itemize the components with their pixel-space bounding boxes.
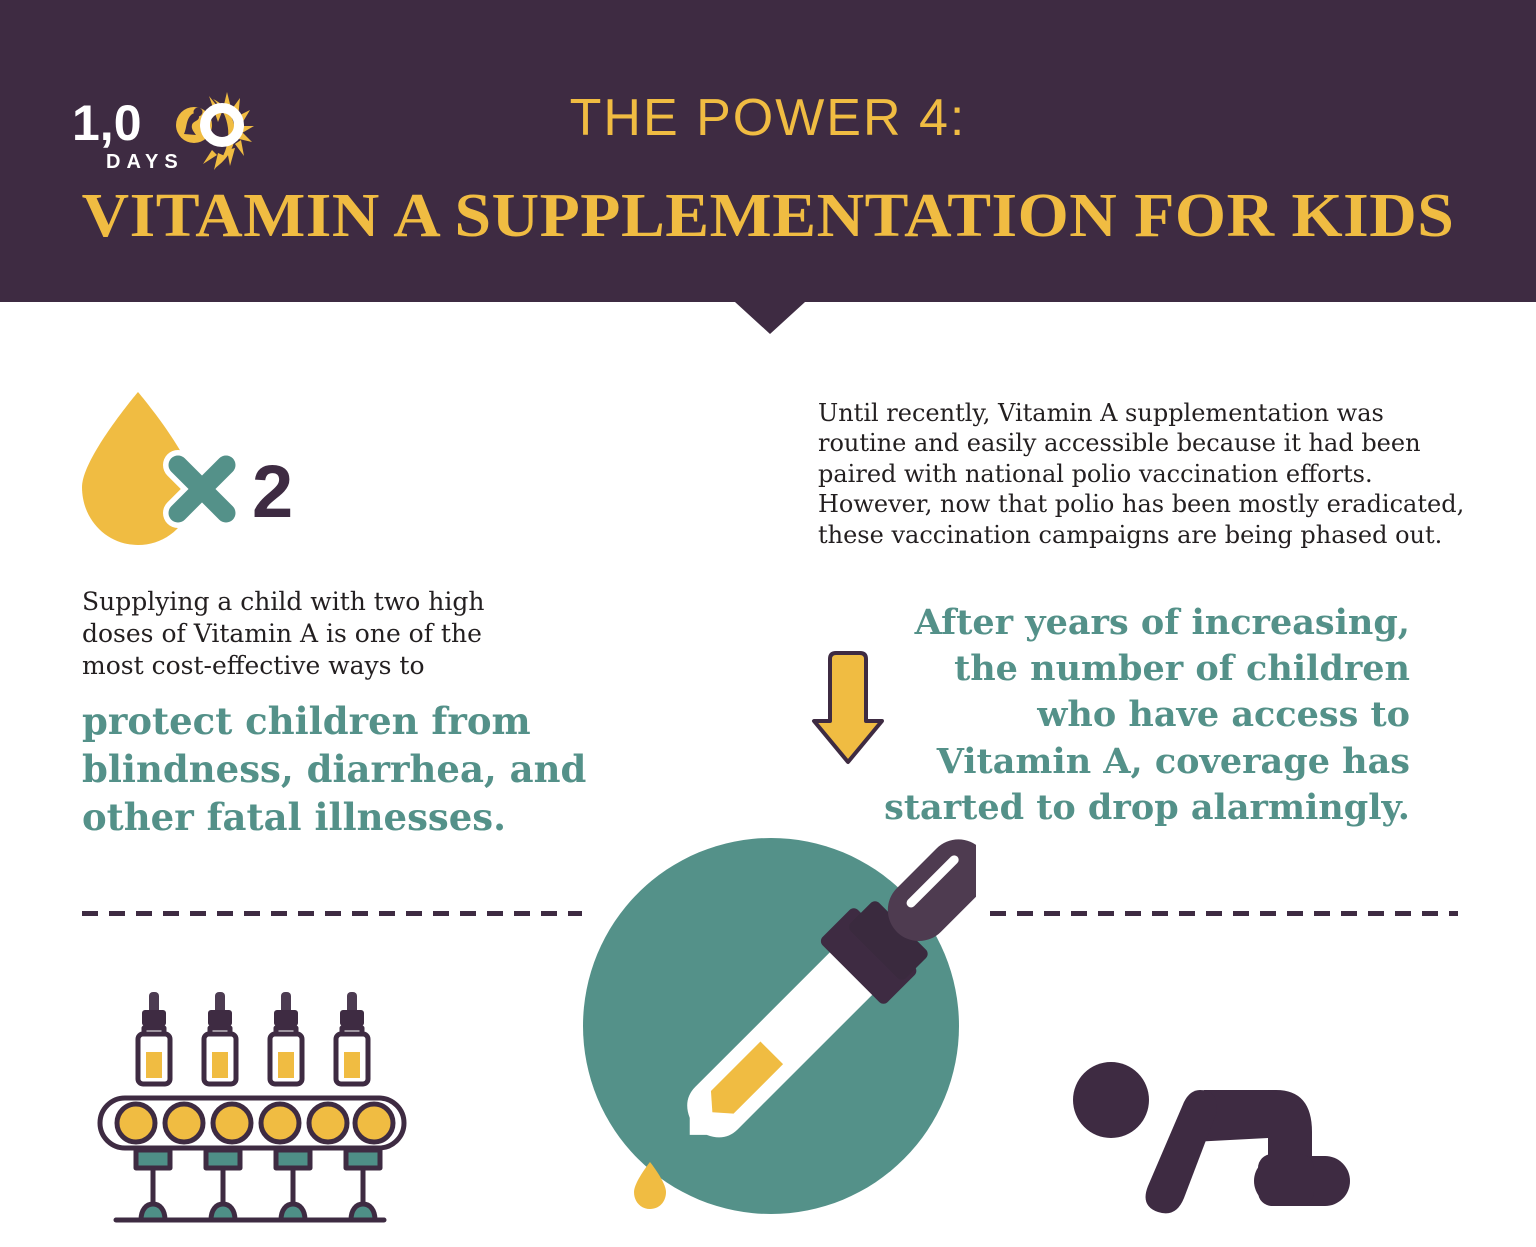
header-banner: 1,0 DAYS THE POWER 4: VITAMIN A SUPPLEME… bbox=[0, 0, 1536, 302]
down-arrow-icon bbox=[808, 645, 888, 770]
header-kicker: THE POWER 4: bbox=[0, 92, 1536, 144]
left-highlight-text: protect children from blindness, diarrhe… bbox=[82, 697, 602, 841]
right-highlight-text: After years of increasing, the number of… bbox=[880, 600, 1410, 831]
page-title: VITAMIN A SUPPLEMENTATION FOR KIDS bbox=[0, 184, 1536, 249]
header-notch-triangle bbox=[735, 302, 805, 334]
right-body-text: Until recently, Vitamin A supplementatio… bbox=[818, 398, 1468, 550]
crawling-baby-icon bbox=[1072, 1058, 1362, 1223]
dashed-divider-left bbox=[82, 911, 582, 916]
eyedropper-illustration bbox=[576, 826, 976, 1226]
bottle-conveyor-belt-illustration bbox=[96, 980, 416, 1230]
svg-text:DAYS: DAYS bbox=[106, 151, 184, 173]
dashed-divider-right bbox=[990, 911, 1458, 916]
left-body-text: Supplying a child with two high doses of… bbox=[82, 586, 512, 682]
multiplier-value: 2 bbox=[252, 455, 293, 529]
